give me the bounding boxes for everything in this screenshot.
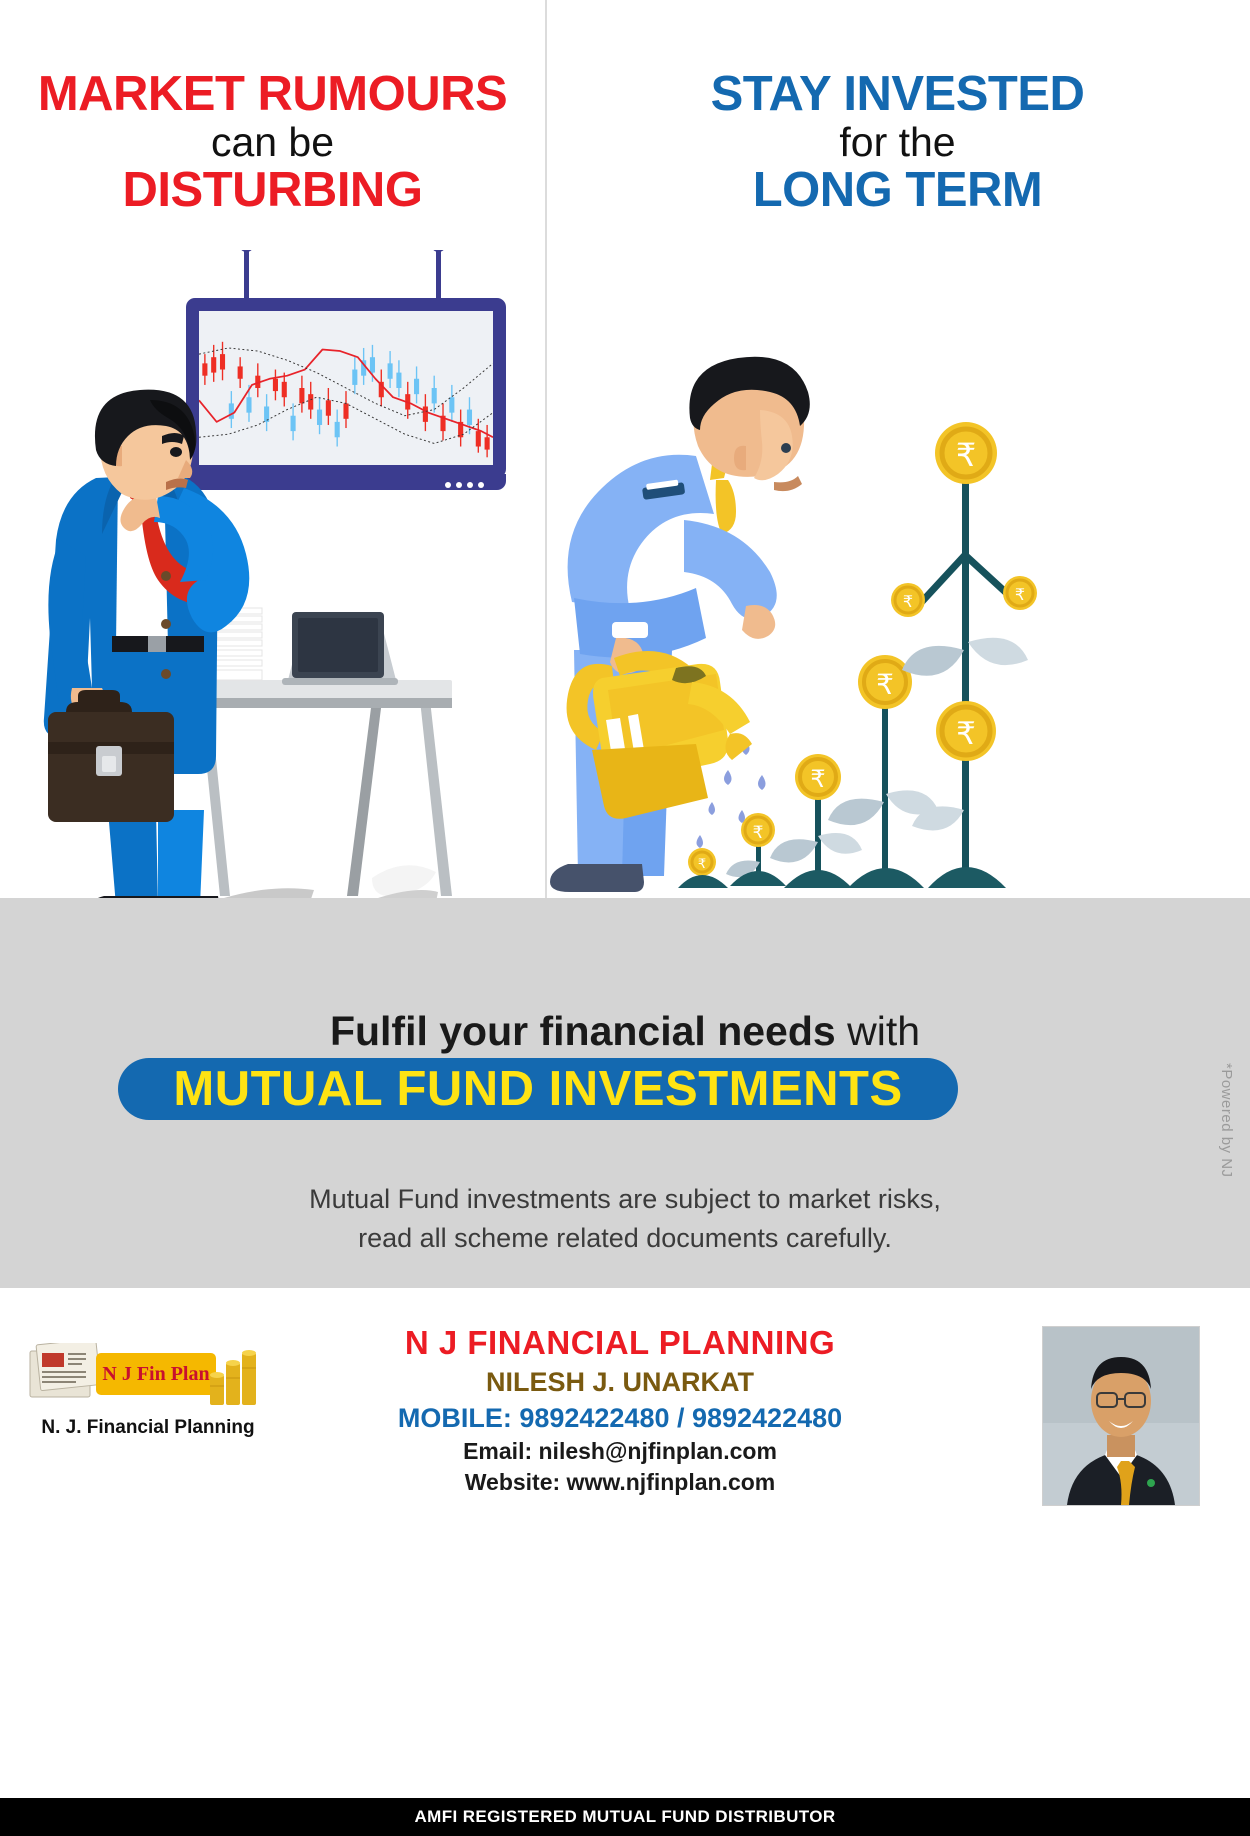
svg-text:₹: ₹ xyxy=(810,766,825,793)
mutual-fund-banner-text: MUTUAL FUND INVESTMENTS xyxy=(173,1065,902,1114)
mid-headline: Fulfil your financial needs with xyxy=(0,1008,1250,1055)
mutual-fund-banner: MUTUAL FUND INVESTMENTS xyxy=(118,1058,958,1120)
long-term-investor-illustration: ₹ ₹ ₹ xyxy=(550,250,1250,910)
bottom-strip-text: AMFI REGISTERED MUTUAL FUND DISTRIBUTOR xyxy=(414,1807,835,1827)
headline-left-line2: can be xyxy=(0,122,545,164)
svg-text:₹: ₹ xyxy=(876,669,894,700)
headline-right-line1: STAY INVESTED xyxy=(545,70,1250,120)
website-url[interactable]: Website: www.njfinplan.com xyxy=(300,1469,940,1496)
newspaper-icon xyxy=(28,1343,106,1405)
headline-area: MARKET RUMOURS can be DISTURBING STAY IN… xyxy=(0,0,1250,290)
company-logo: N J Fin Plan N. J. Financial Planning xyxy=(18,1335,278,1465)
mid-headline-bold: Fulfil your financial needs xyxy=(330,1008,836,1054)
svg-text:₹: ₹ xyxy=(1015,587,1025,604)
disclaimer-line-2: read all scheme related documents carefu… xyxy=(0,1219,1250,1258)
headline-right: STAY INVESTED for the LONG TERM xyxy=(545,70,1250,216)
disclaimer-line-1: Mutual Fund investments are subject to m… xyxy=(0,1180,1250,1219)
middle-panel: Fulfil your financial needs with MUTUAL … xyxy=(0,898,1250,1288)
coin-plant-4: ₹ ₹ ₹ ₹ xyxy=(891,422,1037,888)
svg-text:₹: ₹ xyxy=(956,437,976,473)
advisor-photo xyxy=(1042,1326,1200,1506)
email-address[interactable]: Email: nilesh@njfinplan.com xyxy=(300,1438,940,1465)
headline-left-line1: MARKET RUMOURS xyxy=(0,70,545,120)
disclaimer: Mutual Fund investments are subject to m… xyxy=(0,1180,1250,1258)
svg-text:₹: ₹ xyxy=(903,594,913,611)
worried-investor-illustration xyxy=(0,250,560,910)
svg-text:₹: ₹ xyxy=(753,823,764,842)
poster-root: MARKET RUMOURS can be DISTURBING STAY IN… xyxy=(0,0,1250,1836)
headline-right-line3: LONG TERM xyxy=(545,166,1250,216)
svg-text:₹: ₹ xyxy=(698,856,706,871)
illustration-scene: ₹ ₹ ₹ xyxy=(0,250,1250,910)
advisor-portrait-icon xyxy=(1043,1327,1199,1505)
headline-left: MARKET RUMOURS can be DISTURBING xyxy=(0,70,545,216)
powered-by-label: *Powered by NJ xyxy=(1218,1063,1235,1178)
contact-block: N J FINANCIAL PLANNING NILESH J. UNARKAT… xyxy=(300,1324,940,1496)
gold-coins-icon xyxy=(206,1341,268,1407)
headline-left-line3: DISTURBING xyxy=(0,166,545,216)
coin-plant-0: ₹ xyxy=(678,848,728,888)
footer: N J Fin Plan N. J. Financial Planning xyxy=(0,1288,1250,1798)
mobile-number[interactable]: MOBILE: 9892422480 / 9892422480 xyxy=(300,1403,940,1434)
bottom-strip: AMFI REGISTERED MUTUAL FUND DISTRIBUTOR xyxy=(0,1798,1250,1836)
logo-caption: N. J. Financial Planning xyxy=(18,1417,278,1439)
headline-right-line2: for the xyxy=(545,122,1250,164)
logo-ribbon: N J Fin Plan xyxy=(96,1353,216,1395)
advisor-name: NILESH J. UNARKAT xyxy=(300,1367,940,1398)
mid-headline-thin: with xyxy=(836,1008,920,1054)
firm-name: N J FINANCIAL PLANNING xyxy=(300,1324,940,1362)
svg-text:₹: ₹ xyxy=(956,716,976,751)
logo-ribbon-text: N J Fin Plan xyxy=(102,1363,209,1386)
